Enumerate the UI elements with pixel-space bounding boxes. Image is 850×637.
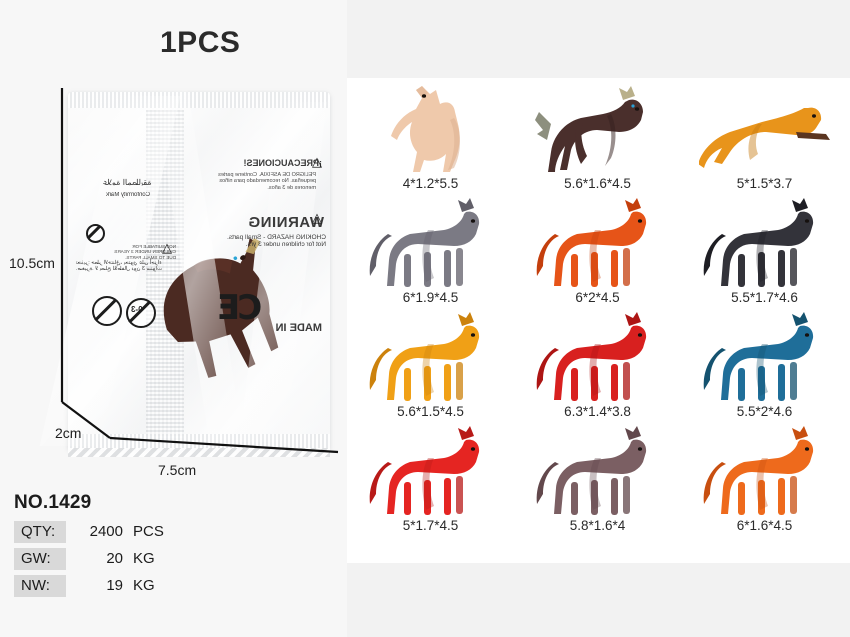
figurine-row: 5.6*1.5*4.5 6.3*1.4*3.8 xyxy=(347,306,850,427)
arabic-conformity-text: علامة المطابقة xyxy=(78,178,176,187)
dimension-width-label: 7.5cm xyxy=(158,462,196,478)
figurine-image xyxy=(681,78,848,178)
package-illustration: ¡PRECAUCIONES! PELIGRO DE ASFIXIA. Conti… xyxy=(62,82,340,474)
figurine-size-label: 5.8*1.6*4 xyxy=(514,518,681,533)
figurine-image xyxy=(347,78,514,178)
figurine-size-label: 6*2*4.5 xyxy=(514,290,681,305)
figurine-cell[interactable]: 5*1.7*4.5 xyxy=(347,420,514,541)
figurine-size-label: 5.5*2*4.6 xyxy=(681,404,848,419)
precauciones-heading: ¡PRECAUCIONES! xyxy=(202,158,322,168)
info-row-value: 20 xyxy=(79,550,123,567)
age-range-label: 0-3 xyxy=(131,305,143,314)
figurine-grid-panel: 4*1.2*5.5 5.6*1.6*4.5 5*1.5*3.7 xyxy=(347,78,850,563)
figurine-row: 6*1.9*4.5 6*2*4.5 xyxy=(347,192,850,313)
figurine-image xyxy=(347,192,514,292)
info-row-unit: KG xyxy=(133,550,155,567)
dimension-depth-label: 2cm xyxy=(55,425,81,441)
info-row-key: GW: xyxy=(14,548,66,570)
horse-amber-standing xyxy=(365,306,497,406)
warning-triangle-icon: △ xyxy=(162,242,172,255)
figurine-image xyxy=(681,306,848,406)
info-row-value: 2400 xyxy=(79,523,123,540)
age-restriction-icon xyxy=(92,296,122,326)
figurine-image xyxy=(514,192,681,292)
figurine-cell[interactable]: 5.5*2*4.6 xyxy=(681,306,848,427)
figurine-cell[interactable]: 5.6*1.5*4.5 xyxy=(347,306,514,427)
horse-cream-rearing xyxy=(365,78,497,178)
horse-orange-lying xyxy=(699,78,831,178)
arabic-warning-text: تحذير: خطر الاختناق، يحتوي على أجزاء صغي… xyxy=(76,260,172,272)
ce-mark-icon: CE xyxy=(220,288,262,328)
figurine-cell[interactable]: 4*1.2*5.5 xyxy=(347,78,514,199)
horse-orange-draft xyxy=(699,420,831,520)
dimension-height-label: 10.5cm xyxy=(9,255,55,271)
figurine-image xyxy=(514,78,681,178)
horse-mauve-standing xyxy=(532,420,664,520)
precauciones-body-text: PELIGRO DE ASFIXIA. Contiene partes pequ… xyxy=(212,172,316,191)
figurine-image xyxy=(681,420,848,520)
info-row-key: QTY: xyxy=(14,521,66,543)
warning-triangle-icon: △ xyxy=(312,212,322,225)
product-info-block: NO.1429 QTY:2400PCSGW:20KGNW:19KG xyxy=(14,492,264,602)
horse-darkbrown-trotting xyxy=(532,78,664,178)
figurine-size-label: 5*1.7*4.5 xyxy=(347,518,514,533)
figurine-size-label: 5.6*1.5*4.5 xyxy=(347,404,514,419)
figurine-cell[interactable]: 6.3*1.4*3.8 xyxy=(514,306,681,427)
figurine-size-label: 6.3*1.4*3.8 xyxy=(514,404,681,419)
horse-black-standing xyxy=(699,192,831,292)
info-row: QTY:2400PCS xyxy=(14,521,264,542)
figurine-image xyxy=(514,420,681,520)
figurine-cell[interactable]: 5.6*1.6*4.5 xyxy=(514,78,681,199)
figurine-row: 5*1.7*4.5 5.8*1.6*4 xyxy=(347,420,850,541)
figurine-size-label: 5*1.5*3.7 xyxy=(681,176,848,191)
left-pane: 1PCS ¡PRECAUCIONES! xyxy=(0,0,347,637)
bag-top-seal xyxy=(68,92,330,108)
figurine-image xyxy=(347,306,514,406)
figurine-image xyxy=(347,420,514,520)
warning-heading: WARNING xyxy=(208,214,324,231)
figurine-cell[interactable]: 6*1.9*4.5 xyxy=(347,192,514,313)
figurine-size-label: 5.6*1.6*4.5 xyxy=(514,176,681,191)
packaged-horse-figure xyxy=(122,178,292,398)
figurine-size-label: 6*1.9*4.5 xyxy=(347,290,514,305)
product-info-rows: QTY:2400PCSGW:20KGNW:19KG xyxy=(14,521,264,596)
info-row-unit: KG xyxy=(133,577,155,594)
info-row-unit: PCS xyxy=(133,523,164,540)
figurine-cell[interactable]: 5.5*1.7*4.6 xyxy=(681,192,848,313)
choking-hazard-text: CHOKING HAZARD - Small parts. Not for ch… xyxy=(204,234,326,249)
figurine-row: 4*1.2*5.5 5.6*1.6*4.5 5*1.5*3.7 xyxy=(347,78,850,199)
figurine-cell[interactable]: 6*1.6*4.5 xyxy=(681,420,848,541)
product-number: NO.1429 xyxy=(14,492,264,514)
horse-orangered-standing xyxy=(532,192,664,292)
poly-bag: ¡PRECAUCIONES! PELIGRO DE ASFIXIA. Conti… xyxy=(62,82,340,474)
bag-zigzag-edge xyxy=(68,448,330,457)
figurine-size-label: 5.5*1.7*4.6 xyxy=(681,290,848,305)
warning-triangle-icon: △ xyxy=(312,156,322,169)
info-row-value: 19 xyxy=(79,577,123,594)
info-row-key: NW: xyxy=(14,575,66,597)
horse-brightred-standing xyxy=(365,420,497,520)
figurine-image xyxy=(514,306,681,406)
info-row: NW:19KG xyxy=(14,575,264,596)
figurine-size-label: 6*1.6*4.5 xyxy=(681,518,848,533)
figurine-cell[interactable]: 6*2*4.5 xyxy=(514,192,681,313)
pcs-title: 1PCS xyxy=(160,26,240,60)
horse-blue-standing xyxy=(699,306,831,406)
conformity-mark-text: Conformity Mark xyxy=(80,192,176,199)
figurine-cell[interactable]: 5*1.5*3.7 xyxy=(681,78,848,199)
horse-red-standing xyxy=(532,306,664,406)
figurine-size-label: 4*1.2*5.5 xyxy=(347,176,514,191)
horse-gray-standing xyxy=(365,192,497,292)
figurine-cell[interactable]: 5.8*1.6*4 xyxy=(514,420,681,541)
figurine-image xyxy=(681,192,848,292)
info-row: GW:20KG xyxy=(14,548,264,569)
